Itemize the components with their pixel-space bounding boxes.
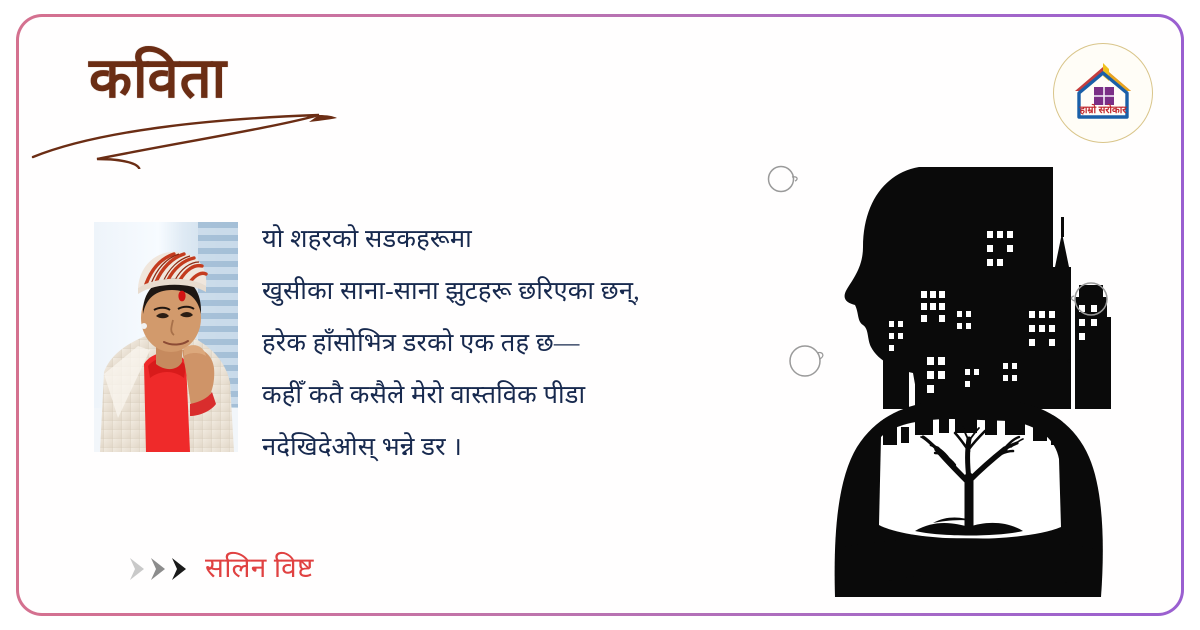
poem-line: खुसीका साना-साना झुटहरू छरिएका छन्, [262, 265, 862, 317]
poem-line: नदेखिदेओस् भन्ने डर । [262, 421, 862, 473]
poster-inner-canvas: कविता [19, 17, 1181, 613]
poster-canvas: कविता [0, 0, 1200, 630]
author-name: सलिन विष्ट [205, 555, 314, 583]
page-title: कविता [89, 51, 419, 161]
head-silhouette-cityscape-artwork [823, 107, 1113, 597]
chevron-group [127, 556, 189, 582]
decorative-bubble-icon [761, 157, 805, 201]
poem-body: यो शहरको सडकहरूमा खुसीका साना-साना झुटहर… [262, 213, 862, 473]
poem-line: कहीँ कतै कसैले मेरो वास्तविक पीडा [262, 369, 862, 421]
chevron-right-icon [148, 556, 168, 582]
avatar [94, 222, 238, 452]
author-byline: सलिन विष्ट [127, 555, 314, 583]
silhouette-illustration [823, 107, 1113, 597]
poet-portrait-image [94, 222, 238, 452]
poem-line: हरेक हाँसोभित्र डरको एक तह छ— [262, 317, 862, 369]
title-flourish-icon [27, 113, 357, 169]
gradient-border-frame: कविता [16, 14, 1184, 616]
poem-line: यो शहरको सडकहरूमा [262, 213, 862, 265]
chevron-right-icon [127, 556, 147, 582]
page-title-text: कविता [89, 48, 227, 110]
chevron-right-icon [169, 556, 189, 582]
